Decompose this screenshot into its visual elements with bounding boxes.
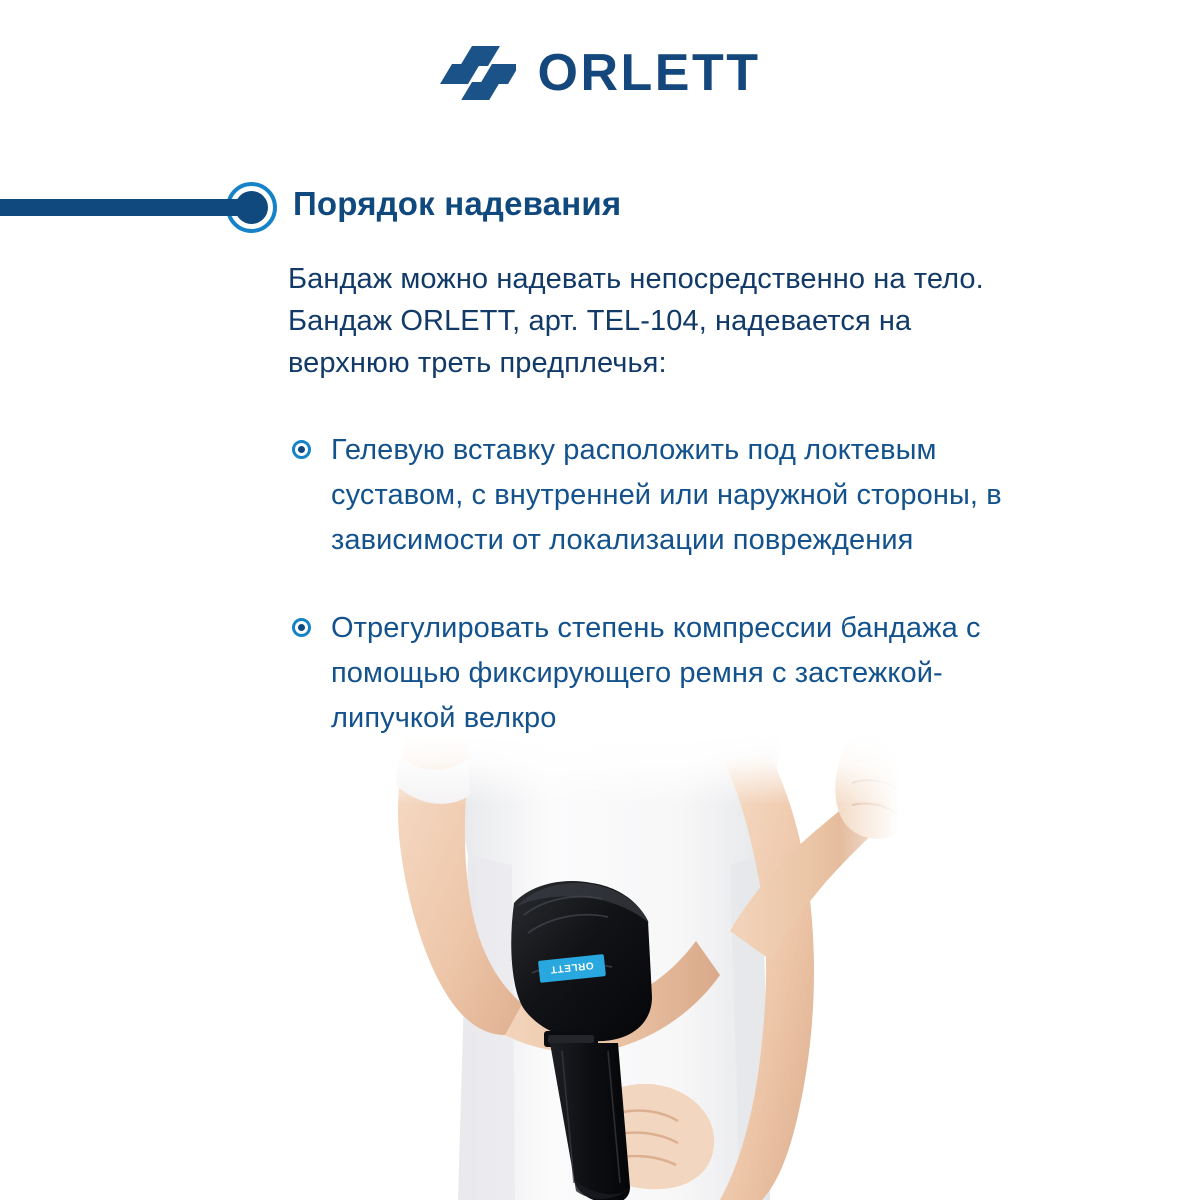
brand-header: ORLETT (0, 38, 1200, 108)
orlett-diamond-mark-icon (440, 46, 516, 100)
page-root: ORLETT Порядок надевания Бандаж можно на… (0, 0, 1200, 1200)
section-node-icon (226, 182, 277, 233)
bullet-dot-icon (292, 440, 311, 459)
section-rule (0, 199, 248, 216)
brand-wordmark: ORLETT (538, 47, 761, 99)
instruction-list: Гелевую вставку расположить под локтевым… (288, 428, 1028, 741)
list-item-text: Гелевую вставку расположить под локтевым… (331, 434, 1002, 556)
content-block: Бандаж можно надевать непосредственно на… (288, 258, 1028, 741)
list-item-text: Отрегулировать степень компрессии бандаж… (331, 612, 981, 734)
intro-paragraph: Бандаж можно надевать непосредственно на… (288, 258, 1028, 384)
page-title: Порядок надевания (293, 185, 621, 223)
bullet-dot-icon (292, 618, 311, 637)
product-photo: ORLETT (300, 735, 900, 1200)
list-item: Отрегулировать степень компрессии бандаж… (288, 606, 1028, 741)
list-item: Гелевую вставку расположить под локтевым… (288, 428, 1028, 563)
section-node-core (235, 191, 268, 224)
